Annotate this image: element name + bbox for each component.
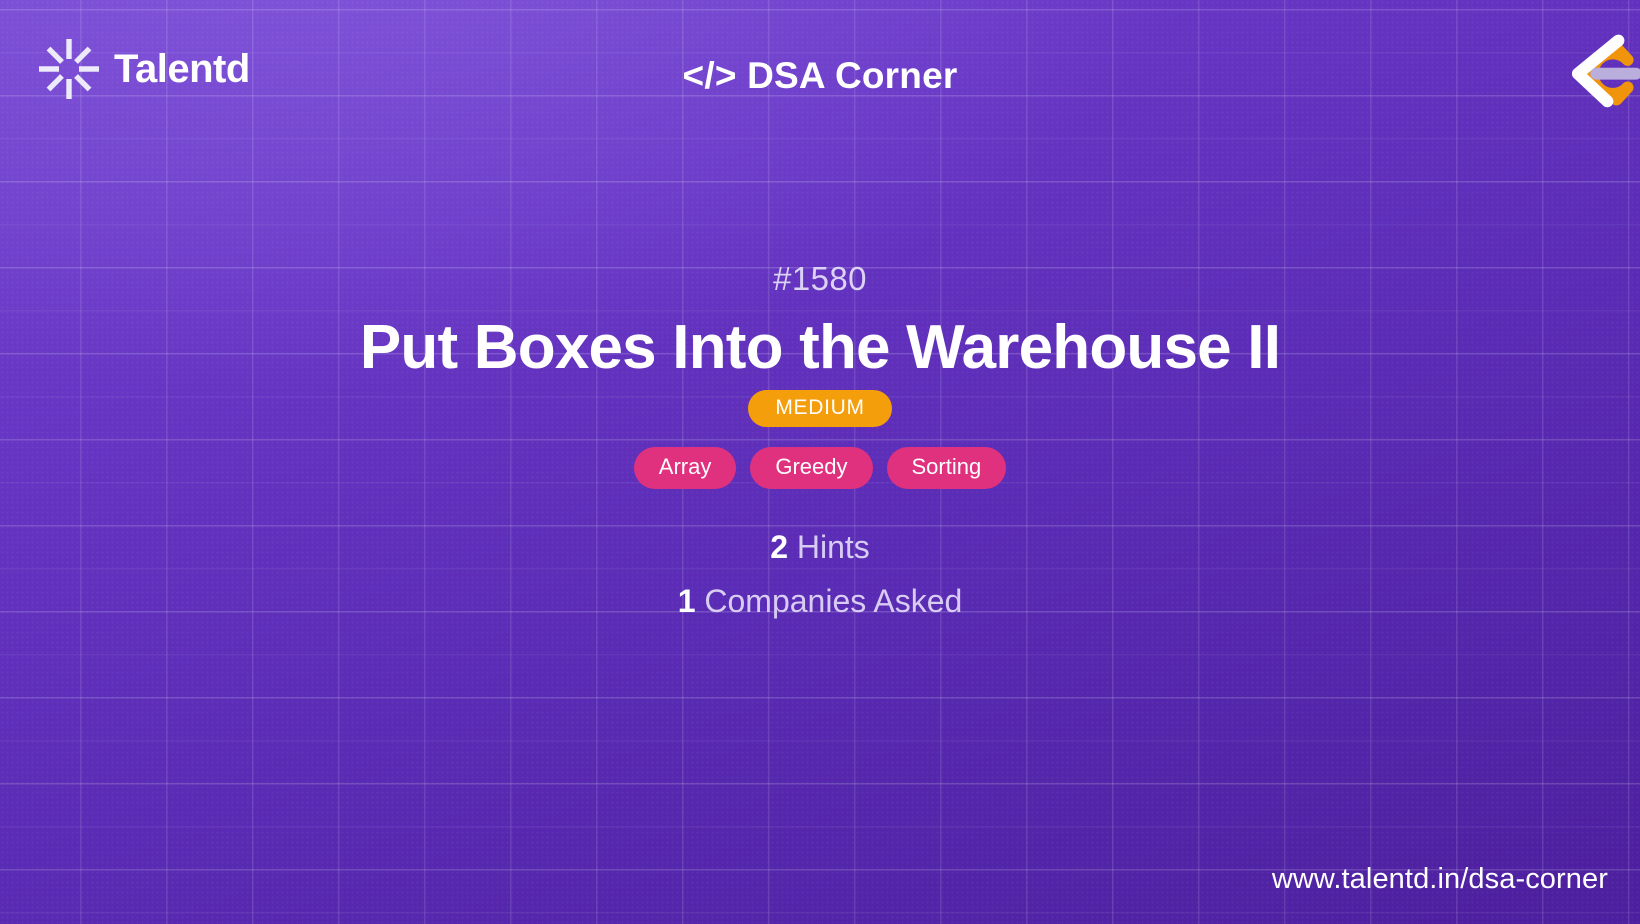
stat-companies: 1 Companies Asked <box>0 585 1640 619</box>
header: Talentd </> DSA Corner <box>0 0 1640 155</box>
page-title-text: DSA Corner <box>747 55 957 96</box>
tag-pill[interactable]: Greedy <box>750 447 872 489</box>
code-tag-icon: </> <box>683 55 737 96</box>
problem-title: Put Boxes Into the Warehouse II <box>0 315 1640 382</box>
stat-companies-label: Companies Asked <box>704 583 962 619</box>
tag-list: Array Greedy Sorting <box>0 447 1640 489</box>
tag-pill[interactable]: Sorting <box>887 447 1007 489</box>
status-badge: MEDIUM <box>748 390 891 427</box>
stat-hints-value: 2 <box>770 529 788 565</box>
tag-pill[interactable]: Array <box>634 447 737 489</box>
poster-canvas: Talentd </> DSA Corner #1580 Put Boxes I… <box>0 0 1640 924</box>
problem-card: #1580 Put Boxes Into the Warehouse II ME… <box>0 262 1640 638</box>
footer-url[interactable]: www.talentd.in/dsa-corner <box>1272 863 1608 896</box>
problem-number: #1580 <box>0 262 1640 295</box>
stat-hints: 2 Hints <box>0 531 1640 565</box>
stat-hints-label: Hints <box>797 529 870 565</box>
page-title: </> DSA Corner <box>0 55 1640 97</box>
leetcode-logo-icon <box>1554 24 1640 116</box>
stat-companies-value: 1 <box>678 583 696 619</box>
stats-list: 2 Hints 1 Companies Asked <box>0 531 1640 618</box>
difficulty-row: MEDIUM <box>0 390 1640 427</box>
